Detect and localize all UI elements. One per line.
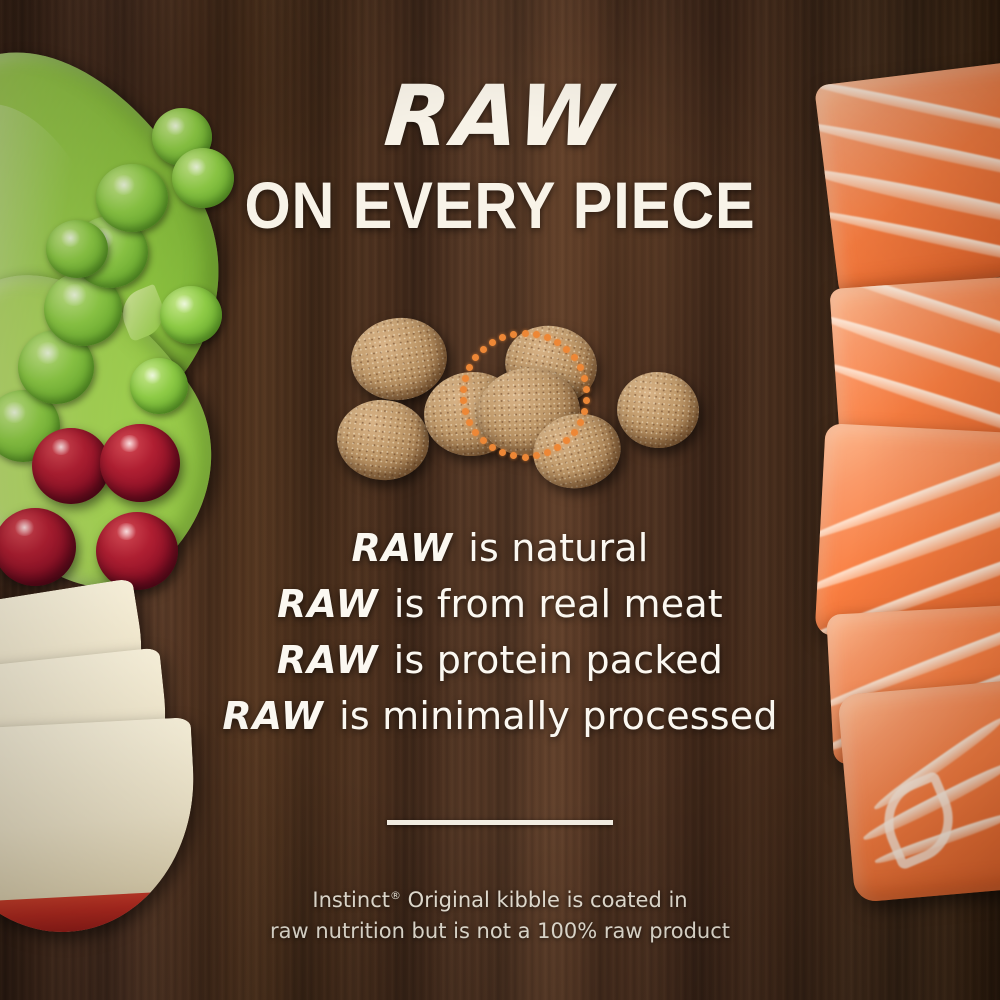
vignette-overlay: [0, 0, 1000, 1000]
product-feature-panel: RAW ON EVERY PIECE RAW is natural RAW is…: [0, 0, 1000, 1000]
